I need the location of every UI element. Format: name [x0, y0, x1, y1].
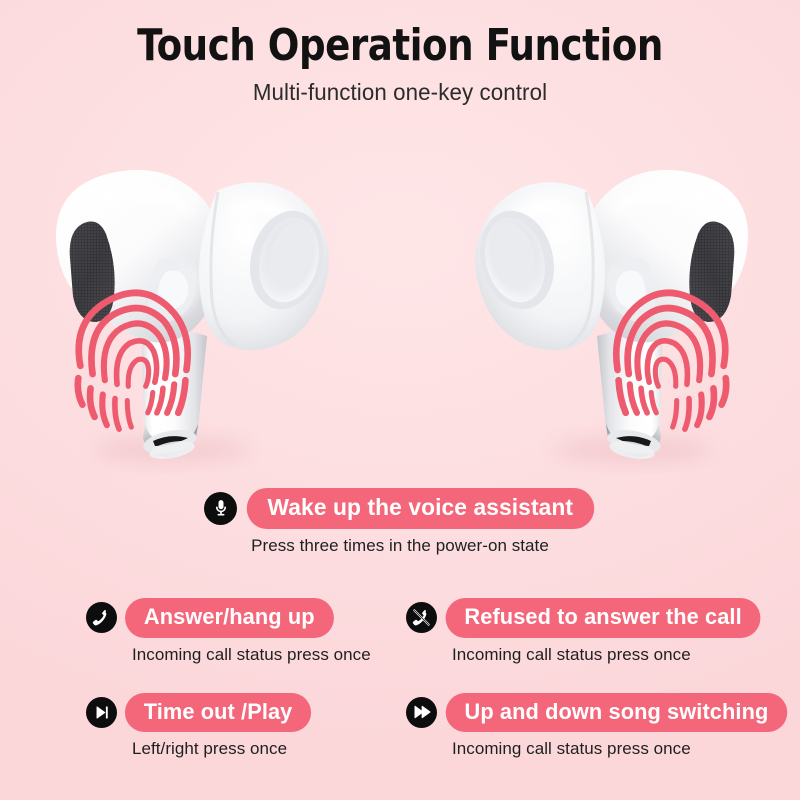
feature-caption: Incoming call status press once [452, 645, 691, 665]
earbuds-illustration [0, 150, 800, 480]
feature-grid: Answer/hang up Incoming call status pres… [86, 598, 726, 759]
voice-assistant-feature: Wake up the voice assistant Press three … [0, 488, 800, 556]
voice-assistant-line: Wake up the voice assistant [204, 488, 596, 529]
voice-assistant-label[interactable]: Wake up the voice assistant [247, 488, 594, 529]
feature-line: Answer/hang up [86, 598, 335, 638]
header: Touch Operation Function Multi-function … [0, 22, 800, 106]
wireless-earbud-right [452, 150, 782, 480]
microphone-icon [204, 492, 237, 525]
phone-decline-icon [406, 602, 437, 633]
feature-caption: Incoming call status press once [452, 739, 691, 759]
voice-assistant-caption: Press three times in the power-on state [251, 536, 549, 556]
skip-to-end-icon [86, 697, 117, 728]
feature-label[interactable]: Time out /Play [125, 693, 311, 733]
fast-forward-icon [406, 697, 437, 728]
feature-caption: Left/right press once [132, 739, 287, 759]
feature-item: Answer/hang up Incoming call status pres… [86, 598, 406, 665]
feature-label[interactable]: Answer/hang up [125, 598, 333, 638]
feature-caption: Incoming call status press once [132, 645, 371, 665]
feature-label[interactable]: Refused to answer the call [446, 598, 761, 638]
feature-label[interactable]: Up and down song switching [446, 693, 787, 733]
feature-item: Up and down song switching Incoming call… [406, 693, 726, 760]
infographic-page: Touch Operation Function Multi-function … [0, 0, 800, 800]
phone-handset-icon [86, 602, 117, 633]
feature-line: Time out /Play [86, 693, 312, 733]
feature-item: Refused to answer the call Incoming call… [406, 598, 726, 665]
feature-line: Refused to answer the call [406, 598, 762, 638]
page-subtitle: Multi-function one-key control [12, 79, 788, 106]
page-title: Touch Operation Function [24, 22, 776, 70]
feature-item: Time out /Play Left/right press once [86, 693, 406, 760]
feature-line: Up and down song switching [406, 693, 789, 733]
wireless-earbud-left [22, 150, 352, 480]
